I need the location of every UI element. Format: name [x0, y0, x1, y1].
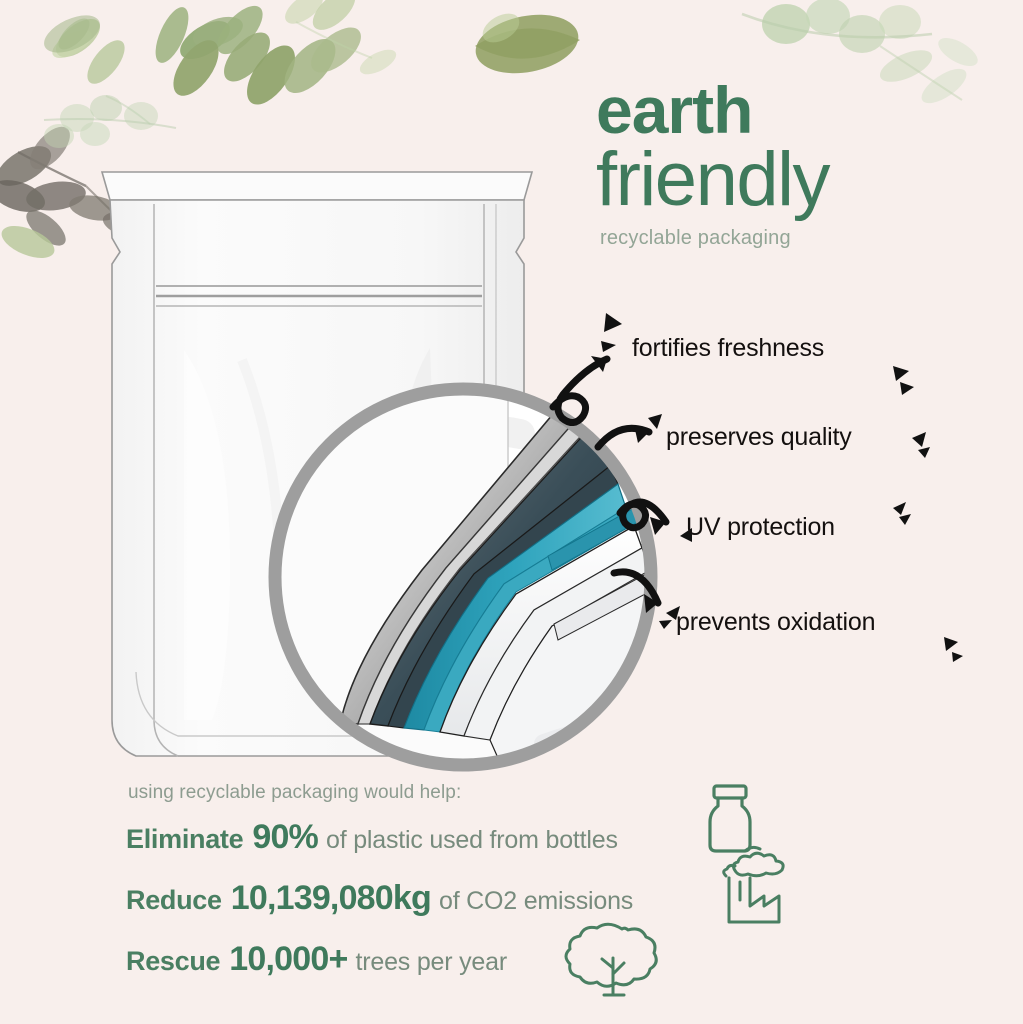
headline-line-2: friendly	[596, 143, 1016, 217]
stat-number: 10,000+	[229, 940, 347, 979]
feature-label-prevents-oxidation: prevents oxidation	[676, 608, 875, 637]
stat-verb: Reduce	[126, 885, 222, 916]
feature-label-uv-protection: UV protection	[686, 513, 835, 542]
headline-subtitle: recyclable packaging	[600, 227, 1016, 250]
feature-label-fortifies-freshness: fortifies freshness	[632, 334, 824, 363]
stat-row: Rescue 10,000+ trees per year	[126, 940, 886, 979]
stat-row: Eliminate 90% of plastic used from bottl…	[126, 818, 886, 857]
stat-verb: Rescue	[126, 946, 220, 977]
infographic-poster: earth friendly recyclable packaging	[0, 0, 1023, 1024]
stat-tail: trees per year	[356, 948, 507, 977]
stats-intro: using recyclable packaging would help:	[128, 782, 886, 804]
stats-section: using recyclable packaging would help: E…	[126, 782, 886, 1001]
stat-tail: of plastic used from bottles	[326, 826, 618, 855]
page-title: earth friendly recyclable packaging	[596, 78, 1016, 250]
stat-number: 10,139,080kg	[231, 879, 431, 918]
stat-row: Reduce 10,139,080kg of CO2 emissions	[126, 879, 886, 918]
feature-label-preserves-quality: preserves quality	[666, 423, 852, 452]
headline-line-1: earth	[596, 78, 1016, 143]
magnifier-circle	[258, 372, 668, 782]
stat-tail: of CO2 emissions	[439, 887, 633, 916]
stat-verb: Eliminate	[126, 824, 243, 855]
stat-number: 90%	[252, 818, 318, 857]
